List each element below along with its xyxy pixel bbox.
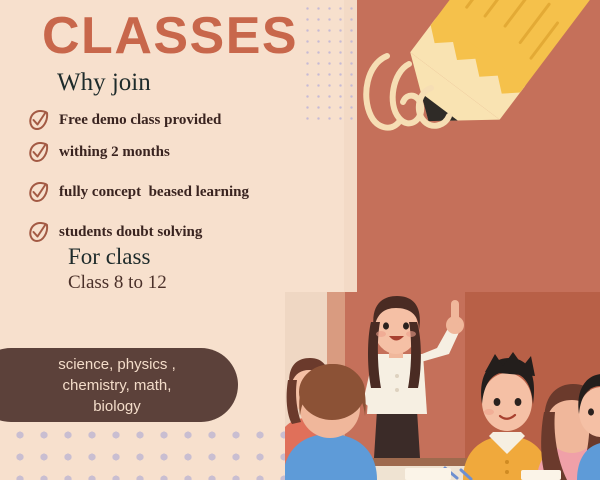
benefits-list: Free demo class provided withing 2 month… (28, 104, 348, 248)
class-range-label: Class 8 to 12 (68, 271, 167, 295)
benefit-label: withing 2 months (59, 144, 170, 161)
list-item: fully concept beased learning (28, 176, 348, 208)
check-circle-icon (28, 221, 50, 243)
benefit-label: fully concept beased learning (59, 184, 249, 201)
check-circle-icon (28, 181, 50, 203)
subjects-pill: science, physics , chemistry, math, biol… (0, 348, 238, 422)
benefit-label: Free demo class provided (59, 112, 221, 129)
benefit-label: students doubt solving (59, 224, 202, 241)
for-class-heading: For class (68, 243, 150, 270)
list-item: Free demo class provided (28, 104, 348, 136)
page-title: CLASSES (42, 8, 298, 64)
subjects-label: science, physics , chemistry, math, biol… (36, 354, 176, 417)
list-item: withing 2 months (28, 136, 348, 168)
classroom-illustration (285, 292, 600, 480)
why-join-heading: Why join (57, 68, 151, 98)
dot-pattern-bottom-left (0, 418, 300, 480)
poster-canvas: CLASSES Why join Free demo class provide… (0, 0, 600, 480)
check-circle-icon (28, 109, 50, 131)
check-circle-icon (28, 141, 50, 163)
